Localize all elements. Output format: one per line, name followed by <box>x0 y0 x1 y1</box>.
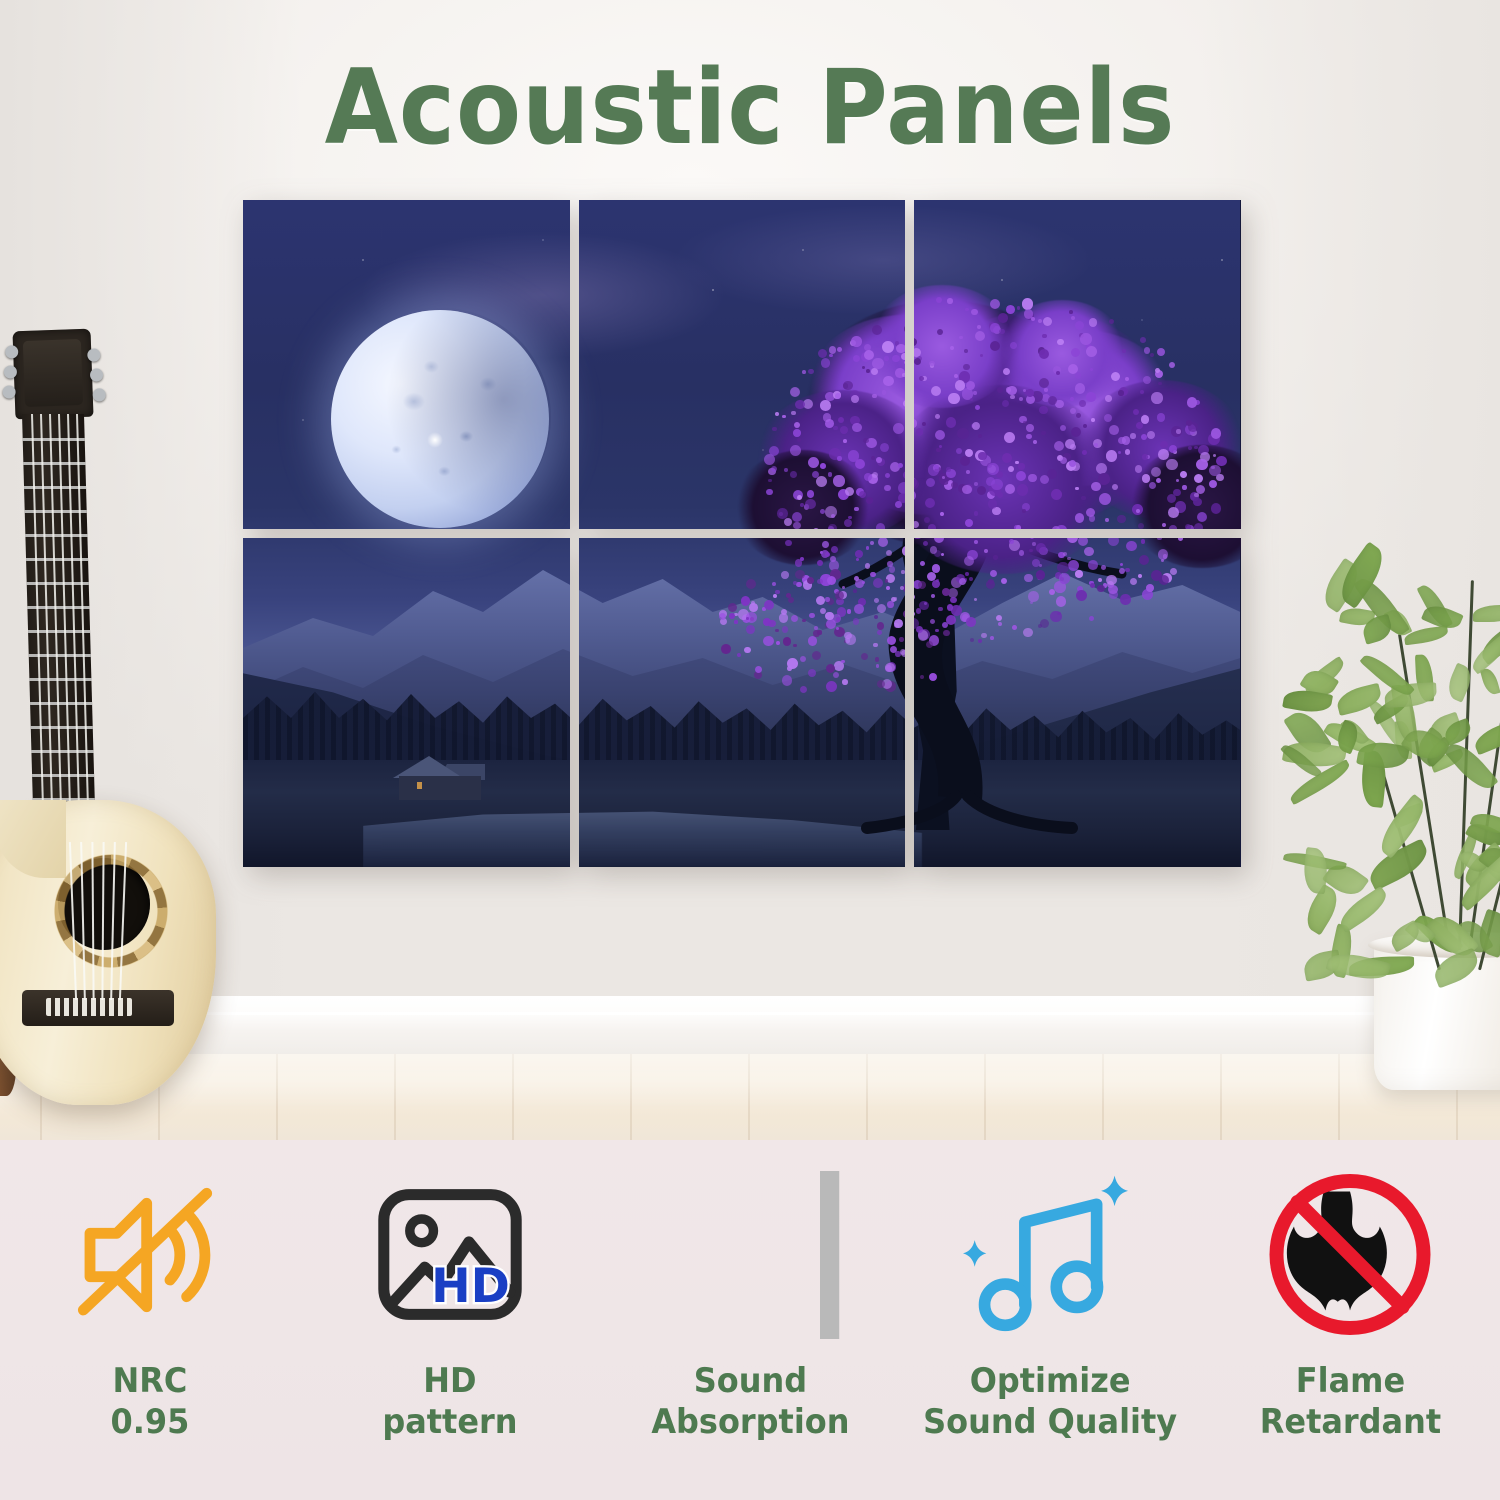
blossom <box>784 468 788 472</box>
panel-top-right[interactable] <box>914 200 1241 529</box>
blossom <box>870 541 874 545</box>
mute-speaker-icon <box>45 1162 255 1347</box>
blossom <box>916 626 923 633</box>
blossom <box>932 580 940 588</box>
blossom <box>1024 574 1032 582</box>
blossom <box>1176 429 1180 433</box>
blossom <box>1112 484 1118 490</box>
blossom <box>861 653 868 660</box>
tuning-peg <box>93 388 106 401</box>
blossom <box>1024 309 1033 318</box>
blossom <box>1140 337 1146 343</box>
blossom <box>1106 575 1116 585</box>
blossom <box>787 666 792 671</box>
blossom <box>874 598 879 603</box>
blossom <box>808 369 814 375</box>
blossom <box>1106 450 1117 461</box>
blossom <box>873 643 878 648</box>
feature-hd-pattern: HD HD pattern <box>300 1140 600 1500</box>
blossom <box>1173 489 1181 497</box>
blossom <box>978 452 987 461</box>
blossom <box>1144 347 1151 354</box>
blossom <box>964 556 974 566</box>
blossom <box>1008 466 1014 472</box>
blossom <box>829 354 833 358</box>
blossom <box>1166 459 1178 471</box>
blossom <box>744 647 750 653</box>
blossom <box>1075 383 1085 393</box>
blossom <box>838 417 844 423</box>
blossom <box>1057 339 1063 345</box>
blossom <box>807 490 814 497</box>
blossom <box>1105 395 1112 402</box>
blossom <box>1028 591 1039 602</box>
blossom <box>1141 434 1147 440</box>
blossom <box>1080 333 1092 345</box>
blossom <box>929 361 935 367</box>
blossom <box>1026 424 1033 431</box>
blossom <box>1157 538 1161 540</box>
blossom <box>1097 585 1104 592</box>
hd-badge-text: HD <box>431 1259 510 1314</box>
blossom <box>825 552 830 557</box>
blossom <box>734 620 737 623</box>
blossom <box>1075 487 1078 490</box>
blossom <box>1180 471 1187 478</box>
blossom <box>1026 389 1033 396</box>
blossom <box>926 641 933 648</box>
blossom <box>990 570 997 577</box>
blossom <box>993 555 998 560</box>
blossom <box>825 612 834 621</box>
blossom <box>928 464 940 476</box>
blossom <box>1186 420 1192 426</box>
blossom <box>741 596 751 606</box>
blossom <box>746 625 755 634</box>
blossom <box>951 482 957 488</box>
blossom <box>984 549 988 553</box>
blossom <box>853 618 860 625</box>
blossom <box>1004 432 1015 443</box>
plant-leaf <box>1468 634 1500 674</box>
blossom <box>963 364 969 370</box>
blossom <box>1109 319 1114 324</box>
panel-top-center[interactable] <box>579 200 906 529</box>
blossom <box>973 391 976 394</box>
blossom <box>1006 387 1011 392</box>
blossom <box>817 560 823 566</box>
blossom <box>964 349 968 353</box>
room-scene <box>0 0 1500 1140</box>
blossom <box>800 656 806 662</box>
panel-bar <box>820 1171 839 1339</box>
blossom <box>842 679 847 684</box>
page-title: Acoustic Panels <box>60 48 1440 168</box>
blossom <box>1050 611 1061 622</box>
acoustic-guitar <box>0 330 236 1105</box>
blossom <box>1065 439 1075 449</box>
blossom <box>791 615 798 622</box>
blossom <box>999 329 1004 334</box>
blossom <box>1125 568 1129 572</box>
blossom <box>782 675 792 685</box>
blossom <box>1098 578 1102 582</box>
blossom <box>1141 539 1145 543</box>
blossom <box>1002 400 1010 408</box>
feature-label: HD pattern <box>382 1361 517 1444</box>
artwork-slice <box>914 200 1240 529</box>
blossom <box>1196 459 1207 470</box>
blossom <box>943 630 949 636</box>
blossom <box>1039 349 1049 359</box>
blossom <box>1075 372 1082 379</box>
blossom <box>950 597 956 603</box>
blossom <box>1142 474 1151 483</box>
feature-optimize-sound: Optimize Sound Quality <box>900 1140 1200 1500</box>
tree-trunk-curve <box>243 538 570 867</box>
blossom <box>974 540 978 544</box>
blossom-tree <box>243 200 570 529</box>
blossom <box>1130 433 1135 438</box>
blossom <box>866 546 869 549</box>
blossom <box>942 476 945 479</box>
blossom <box>930 619 935 624</box>
blossom <box>845 634 855 644</box>
blossom <box>1075 570 1082 577</box>
blossom <box>971 309 977 315</box>
blossom <box>1063 552 1067 556</box>
blossom <box>998 313 1008 323</box>
blossom <box>1029 549 1033 553</box>
blossom <box>1070 397 1074 401</box>
blossom <box>1157 413 1166 422</box>
blossom <box>820 400 831 411</box>
blossom <box>823 413 832 422</box>
tuning-peg <box>87 348 100 361</box>
blossom <box>947 604 953 610</box>
blossom <box>1067 557 1071 561</box>
blossom <box>782 415 786 419</box>
plant-leaf <box>1480 666 1500 696</box>
blossom <box>1194 446 1197 449</box>
blossom <box>851 395 859 403</box>
music-note-sparkle-icon <box>945 1162 1155 1347</box>
blossom <box>1039 406 1048 415</box>
blossom <box>856 558 859 561</box>
blossom <box>1082 450 1087 455</box>
blossom <box>719 613 726 620</box>
blossom <box>1088 560 1098 570</box>
blossom <box>793 429 800 436</box>
panel-bottom-center[interactable] <box>579 538 906 867</box>
blossom <box>1012 625 1017 630</box>
blossom <box>1059 573 1070 584</box>
blossom <box>816 596 825 605</box>
blossom <box>862 366 865 369</box>
blossom <box>1009 539 1014 544</box>
blossom <box>817 579 823 585</box>
artwork-slice <box>243 538 570 867</box>
blossom <box>1051 489 1062 500</box>
blossom <box>1023 628 1032 637</box>
blossom <box>988 579 993 584</box>
blossom <box>1056 596 1066 606</box>
blossom <box>1079 400 1086 407</box>
blossom <box>853 589 857 593</box>
guitar-saddle <box>46 998 132 1016</box>
blossom <box>854 604 864 614</box>
blossom <box>966 470 970 474</box>
blossom <box>833 475 844 486</box>
blossom <box>1005 484 1015 494</box>
blossom <box>822 541 829 548</box>
acoustic-panel-grid <box>243 200 1241 867</box>
artwork-slice <box>579 200 906 529</box>
blossom <box>793 581 797 585</box>
blossom <box>845 487 854 496</box>
blossom <box>829 346 836 353</box>
plant-leaf <box>1444 663 1477 703</box>
blossom <box>826 681 837 692</box>
blossom <box>820 463 826 469</box>
blossom <box>1150 353 1154 357</box>
feature-list: NRC 0.95 HD HD pattern <box>0 1140 1500 1500</box>
blossom <box>1086 346 1097 357</box>
blossom <box>785 540 792 547</box>
blossom <box>1089 616 1094 621</box>
blossom <box>1036 570 1045 579</box>
blossom <box>1119 568 1125 574</box>
blossom <box>978 434 982 438</box>
blossom <box>1142 454 1147 459</box>
blossom <box>1160 441 1167 448</box>
blossom <box>1054 441 1064 451</box>
artwork-slice <box>914 538 1240 867</box>
blossom <box>920 561 925 566</box>
potted-plant <box>1262 330 1500 1130</box>
blossom <box>854 576 859 581</box>
blossom <box>721 644 731 654</box>
blossom <box>1158 382 1162 386</box>
no-flame-icon <box>1245 1162 1455 1347</box>
blossom <box>1089 318 1097 326</box>
blossom <box>966 617 976 627</box>
blossom <box>1041 431 1045 435</box>
blossom <box>797 438 801 442</box>
blossom <box>1098 473 1110 485</box>
blossom <box>1010 342 1017 349</box>
blossom <box>918 581 926 589</box>
blossom <box>772 427 776 431</box>
blossom <box>802 370 806 374</box>
blossom <box>942 588 950 596</box>
blossom <box>800 686 807 693</box>
hd-image-icon: HD <box>345 1162 555 1347</box>
blossom <box>919 376 924 381</box>
blossom <box>970 638 974 642</box>
blossom <box>987 463 999 475</box>
blossom <box>947 298 952 303</box>
blossom <box>1122 436 1131 445</box>
blossom <box>990 341 1000 351</box>
blossom <box>1028 474 1037 483</box>
plant-leaf <box>1473 605 1500 622</box>
blossom <box>930 546 938 554</box>
blossom <box>1002 453 1012 463</box>
sound-absorption-icon <box>645 1162 855 1347</box>
blossom <box>763 618 771 626</box>
blossom <box>1086 392 1096 402</box>
blossom <box>870 572 875 577</box>
blossom <box>965 572 969 576</box>
panel-bottom-left[interactable] <box>243 538 570 867</box>
blossom <box>1125 449 1130 454</box>
feature-label: Optimize Sound Quality <box>923 1361 1177 1444</box>
blossom <box>946 615 956 625</box>
blossom <box>991 479 1003 491</box>
blossom <box>1019 550 1024 555</box>
blossom <box>817 630 821 634</box>
blossom <box>775 629 779 633</box>
blossom <box>1130 578 1137 585</box>
blossom <box>938 607 942 611</box>
blossom <box>1211 428 1221 438</box>
tree-trunk-curve <box>243 200 570 529</box>
blossom <box>874 615 878 619</box>
blossom <box>1044 388 1047 391</box>
blossom <box>974 482 978 486</box>
blossom <box>935 629 939 633</box>
feature-label: Sound Absorption <box>651 1361 849 1444</box>
blossom <box>863 438 868 443</box>
feature-sound-absorption: Sound Absorption <box>600 1140 900 1500</box>
blossom <box>853 355 860 362</box>
blossom <box>809 613 815 619</box>
blossom <box>946 417 957 428</box>
blossom <box>782 626 789 633</box>
blossom <box>779 613 789 623</box>
tuning-peg <box>4 365 17 378</box>
blossom <box>978 639 982 643</box>
blossom <box>931 386 941 396</box>
blossom <box>962 485 972 495</box>
blossom <box>1057 562 1069 574</box>
feature-label: NRC 0.95 <box>111 1361 190 1444</box>
blossom <box>1042 334 1047 339</box>
blossom <box>852 423 862 433</box>
blossom <box>1076 590 1087 601</box>
tuning-peg <box>5 345 18 358</box>
blossom <box>1001 578 1007 584</box>
blossom <box>1017 484 1028 495</box>
blossom <box>946 467 950 471</box>
blossom <box>1135 465 1143 473</box>
blossom <box>802 619 805 622</box>
blossom <box>1120 594 1130 604</box>
product-marketing-image: Acoustic Panels NRC 0.95 <box>0 0 1500 1500</box>
tuning-peg <box>90 368 103 381</box>
blossom <box>843 383 848 388</box>
blossom <box>939 445 942 448</box>
feature-band: NRC 0.95 HD HD pattern <box>0 1140 1500 1500</box>
feature-nrc: NRC 0.95 <box>0 1140 300 1500</box>
panel-top-left[interactable] <box>243 200 570 529</box>
blossom <box>1141 415 1150 424</box>
guitar-headstock <box>12 329 93 420</box>
blossom <box>916 428 923 435</box>
blossom <box>1081 496 1085 500</box>
blossom <box>1019 397 1023 401</box>
blossom <box>957 428 968 439</box>
blossom <box>793 644 797 648</box>
blossom <box>1156 478 1161 483</box>
artwork-slice <box>579 538 906 867</box>
blossom <box>969 577 974 582</box>
blossom <box>814 626 818 630</box>
blossom <box>1060 425 1066 431</box>
blossom <box>1101 565 1106 570</box>
blossom <box>837 456 841 460</box>
blossom <box>926 478 935 487</box>
blossom <box>831 546 838 553</box>
blossom <box>847 609 851 613</box>
blossom <box>1118 451 1121 454</box>
blossom <box>935 414 940 419</box>
blossom <box>955 380 966 391</box>
blossom <box>776 641 780 645</box>
blossom <box>1091 418 1095 422</box>
blossom <box>948 393 959 404</box>
blossom <box>1151 392 1162 403</box>
blossom <box>855 550 863 558</box>
tree-canopy <box>997 300 1127 407</box>
blossom <box>728 603 737 612</box>
blossom <box>1039 378 1049 388</box>
panel-bottom-right[interactable] <box>914 538 1241 867</box>
blossom <box>872 472 878 478</box>
blossom <box>1047 469 1057 479</box>
blossom <box>851 336 862 347</box>
blossom <box>781 571 788 578</box>
artwork-slice <box>243 200 570 529</box>
blossom <box>1006 305 1015 314</box>
blossom <box>916 608 922 614</box>
blossom <box>1068 560 1079 571</box>
tuning-peg <box>2 385 15 398</box>
blossom <box>1118 390 1124 396</box>
blossom <box>836 617 840 621</box>
blossom <box>1084 547 1093 556</box>
blossom <box>1108 585 1117 594</box>
blossom <box>1109 425 1119 435</box>
blossom <box>1209 465 1221 477</box>
blossom <box>1018 463 1024 469</box>
blossom <box>1194 493 1198 497</box>
blossom <box>835 591 844 600</box>
blossom <box>825 597 829 601</box>
blossom <box>818 349 827 358</box>
blossom <box>790 471 797 478</box>
guitar-neck <box>22 414 96 844</box>
blossom <box>1182 485 1186 489</box>
feature-flame-retardant: Flame Retardant <box>1200 1140 1500 1500</box>
feature-label: Flame Retardant <box>1259 1361 1440 1444</box>
blossom <box>865 563 871 569</box>
blossom <box>959 336 963 340</box>
blossom <box>931 594 935 598</box>
blossom <box>1187 397 1197 407</box>
blossom <box>1158 449 1169 460</box>
